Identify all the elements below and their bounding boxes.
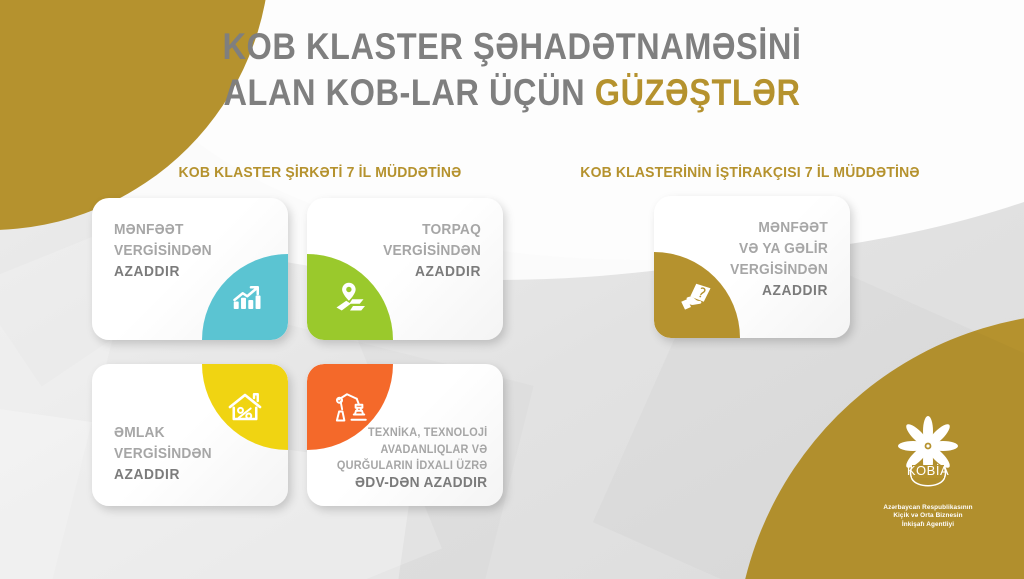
map-pin-icon	[332, 279, 368, 315]
card4-line-3: QURĞULARIN İDXALI ÜZRƏ	[336, 460, 487, 472]
benefit-card-property-tax[interactable]: ƏMLAK VERGİSİNDƏN AZADDIR	[92, 364, 288, 506]
benefit-card-profit-tax[interactable]: MƏNFƏƏT VERGİSİNDƏN AZADDIR	[92, 198, 288, 340]
wedge-teal	[202, 254, 288, 340]
benefit-card-text: MƏNFƏƏT VƏ YA GƏLİR VERGİSİNDƏN AZADDIR	[730, 218, 828, 302]
section-header-left: KOB KLASTER ŞİRKƏTİ 7 İL MÜDDƏTİNƏ	[153, 164, 488, 181]
card5-line-1: MƏNFƏƏT	[758, 220, 828, 236]
house-percent-icon	[227, 389, 263, 425]
card4-bold: ƏDV-DƏN AZADDIR	[355, 475, 487, 491]
wedge-green	[307, 254, 393, 340]
bar-chart-growth-icon	[227, 279, 263, 315]
logo-tagline-line-1: Azərbaycan Respublikasının	[838, 504, 1018, 512]
robot-arm-icon	[332, 389, 368, 425]
card5-line-3: VERGİSİNDƏN	[730, 262, 828, 278]
infographic-canvas: KOB KLASTER ŞƏHADƏTNAMƏSİNİ ALAN KOB-LAR…	[0, 0, 1024, 579]
wedge-yellow	[202, 364, 288, 450]
benefit-card-text: TEXNİKA, TEXNOLOJİ AVADANLIQLAR VƏ QURĞU…	[336, 425, 487, 492]
card2-line-1: TORPAQ	[422, 222, 481, 238]
wedge-gold	[654, 252, 740, 338]
title-line-2-highlight: GÜZƏŞTLƏR	[595, 72, 801, 113]
card1-line-2: VERGİSİNDƏN	[114, 243, 212, 259]
card5-line-2: VƏ YA GƏLİR	[739, 241, 828, 257]
logo-wordmark: KOBİA	[907, 463, 949, 478]
section-header-right: KOB KLASTERİNİN İŞTİRAKÇISI 7 İL MÜDDƏTİ…	[578, 164, 922, 181]
card2-bold: AZADDIR	[415, 264, 481, 280]
hand-money-icon	[679, 277, 715, 313]
logo-tagline-line-2: Kiçik və Orta Biznesin	[838, 512, 1018, 520]
card4-line-1: TEXNİKA, TEXNOLOJİ	[368, 427, 487, 439]
kobia-logo: KOBİA Azərbaycan Respublikasının Kiçik v…	[838, 415, 1018, 529]
card2-line-2: VERGİSİNDƏN	[383, 243, 481, 259]
benefit-card-land-tax[interactable]: TORPAQ VERGİSİNDƏN AZADDIR	[307, 198, 503, 340]
benefit-card-income-tax[interactable]: MƏNFƏƏT VƏ YA GƏLİR VERGİSİNDƏN AZADDIR	[654, 196, 850, 338]
card3-line-1: ƏMLAK	[114, 425, 165, 441]
card3-line-2: VERGİSİNDƏN	[114, 446, 212, 462]
daisy-flower-icon: KOBİA	[838, 415, 1018, 497]
card3-bold: AZADDIR	[114, 467, 180, 483]
card1-bold: AZADDIR	[114, 264, 180, 280]
title-line-2-grey: ALAN KOB-LAR ÜÇÜN	[223, 72, 594, 113]
benefit-card-vat-equipment[interactable]: TEXNİKA, TEXNOLOJİ AVADANLIQLAR VƏ QURĞU…	[307, 364, 503, 506]
title-line-2: ALAN KOB-LAR ÜÇÜN GÜZƏŞTLƏR	[61, 70, 962, 116]
title-line-1: KOB KLASTER ŞƏHADƏTNAMƏSİNİ	[61, 24, 962, 70]
card4-line-2: AVADANLIQLAR VƏ	[380, 444, 487, 456]
logo-tagline: Azərbaycan Respublikasının Kiçik və Orta…	[838, 504, 1018, 529]
card1-line-1: MƏNFƏƏT	[114, 222, 184, 238]
benefit-card-text: ƏMLAK VERGİSİNDƏN AZADDIR	[114, 423, 212, 486]
benefit-card-text: MƏNFƏƏT VERGİSİNDƏN AZADDIR	[114, 220, 212, 283]
card5-bold: AZADDIR	[762, 283, 828, 299]
page-title: KOB KLASTER ŞƏHADƏTNAMƏSİNİ ALAN KOB-LAR…	[0, 24, 1024, 116]
logo-tagline-line-3: İnkişafı Agentliyi	[838, 521, 1018, 529]
benefit-card-text: TORPAQ VERGİSİNDƏN AZADDIR	[383, 220, 481, 283]
